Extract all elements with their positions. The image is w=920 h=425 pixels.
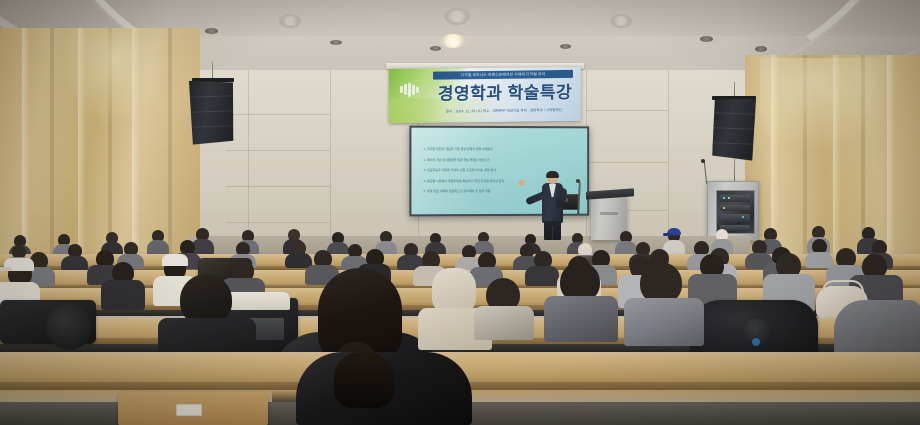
- ceiling-downlight: [560, 44, 571, 49]
- wall-right-light-wash: [760, 58, 900, 148]
- line-array-speaker-left: [189, 79, 235, 144]
- ceiling-spotlight-glow: [440, 34, 466, 48]
- lecturer-leg-split: [552, 226, 553, 240]
- wall-panel-seam: [330, 70, 331, 260]
- banner-footer: 일시 : 2024. 11. 20 (수) 장소 : 대학본부 대강의실 주최 …: [435, 107, 573, 116]
- lecture-hall-photo: 디지털 비즈니스 트랜스포메이션 시대의 디지털 리더 경영학과 학술특강 일시…: [0, 0, 920, 425]
- wall-panel-seam: [226, 222, 330, 223]
- banner-subtitle-text: 디지털 비즈니스 트랜스포메이션 시대의 디지털 리더: [461, 72, 546, 77]
- ceiling-vent: [610, 14, 632, 28]
- university-emblem-icon: [394, 81, 424, 98]
- podium-logo: [600, 212, 618, 215]
- ceiling-downlight: [330, 40, 342, 45]
- wall-panel-seam: [586, 110, 668, 111]
- av-rack-glass-door[interactable]: [716, 190, 755, 234]
- wall-slat-shadow: [50, 28, 54, 263]
- slide-bullet: 1. 디지털 전환의 개념과 기업 경영 환경의 변화 이해하기: [424, 148, 572, 151]
- banner-footer-text: 일시 : 2024. 11. 20 (수) 장소 : 대학본부 대강의실 주최 …: [446, 109, 562, 114]
- lecturer-arm: [555, 187, 567, 208]
- speaker-drop-wire: [734, 159, 735, 183]
- tote-round-pouch: [46, 304, 92, 350]
- wall-panel-seam: [226, 150, 330, 151]
- podium-microphone-head: [576, 179, 580, 183]
- rack-microphone-head: [701, 159, 705, 163]
- foreground-ponytail-lower: [334, 352, 394, 408]
- wall-panel-seam: [226, 114, 330, 115]
- wall-slat-highlight: [22, 28, 29, 263]
- ceiling-vent: [279, 14, 301, 28]
- ceiling-vent: [444, 8, 470, 25]
- wall-panel-seam: [226, 186, 330, 187]
- event-banner: 디지털 비즈니스 트랜스포메이션 시대의 디지털 리더 경영학과 학술특강 일시…: [389, 67, 581, 123]
- line-array-speaker-right: [712, 97, 756, 160]
- lecturer-hair: [546, 171, 559, 178]
- lecturer: [530, 172, 574, 240]
- wall-left-light-wash: [60, 28, 170, 128]
- banner-title-text: 경영학과 학술특강: [438, 83, 572, 102]
- chair-seat-label: [176, 404, 202, 416]
- banner-title: 경영학과 학술특강: [431, 79, 579, 107]
- backpack-zipper-pull: [752, 338, 760, 346]
- handbag-cream-strap: [822, 280, 864, 292]
- ceiling-downlight: [430, 46, 441, 51]
- lecturer-hand: [518, 180, 525, 186]
- wall-panel-seam: [586, 162, 668, 163]
- slide-bullet: 2. 데이터 기반 의사결정을 위한 핵심 역량은 무엇인가: [424, 159, 572, 162]
